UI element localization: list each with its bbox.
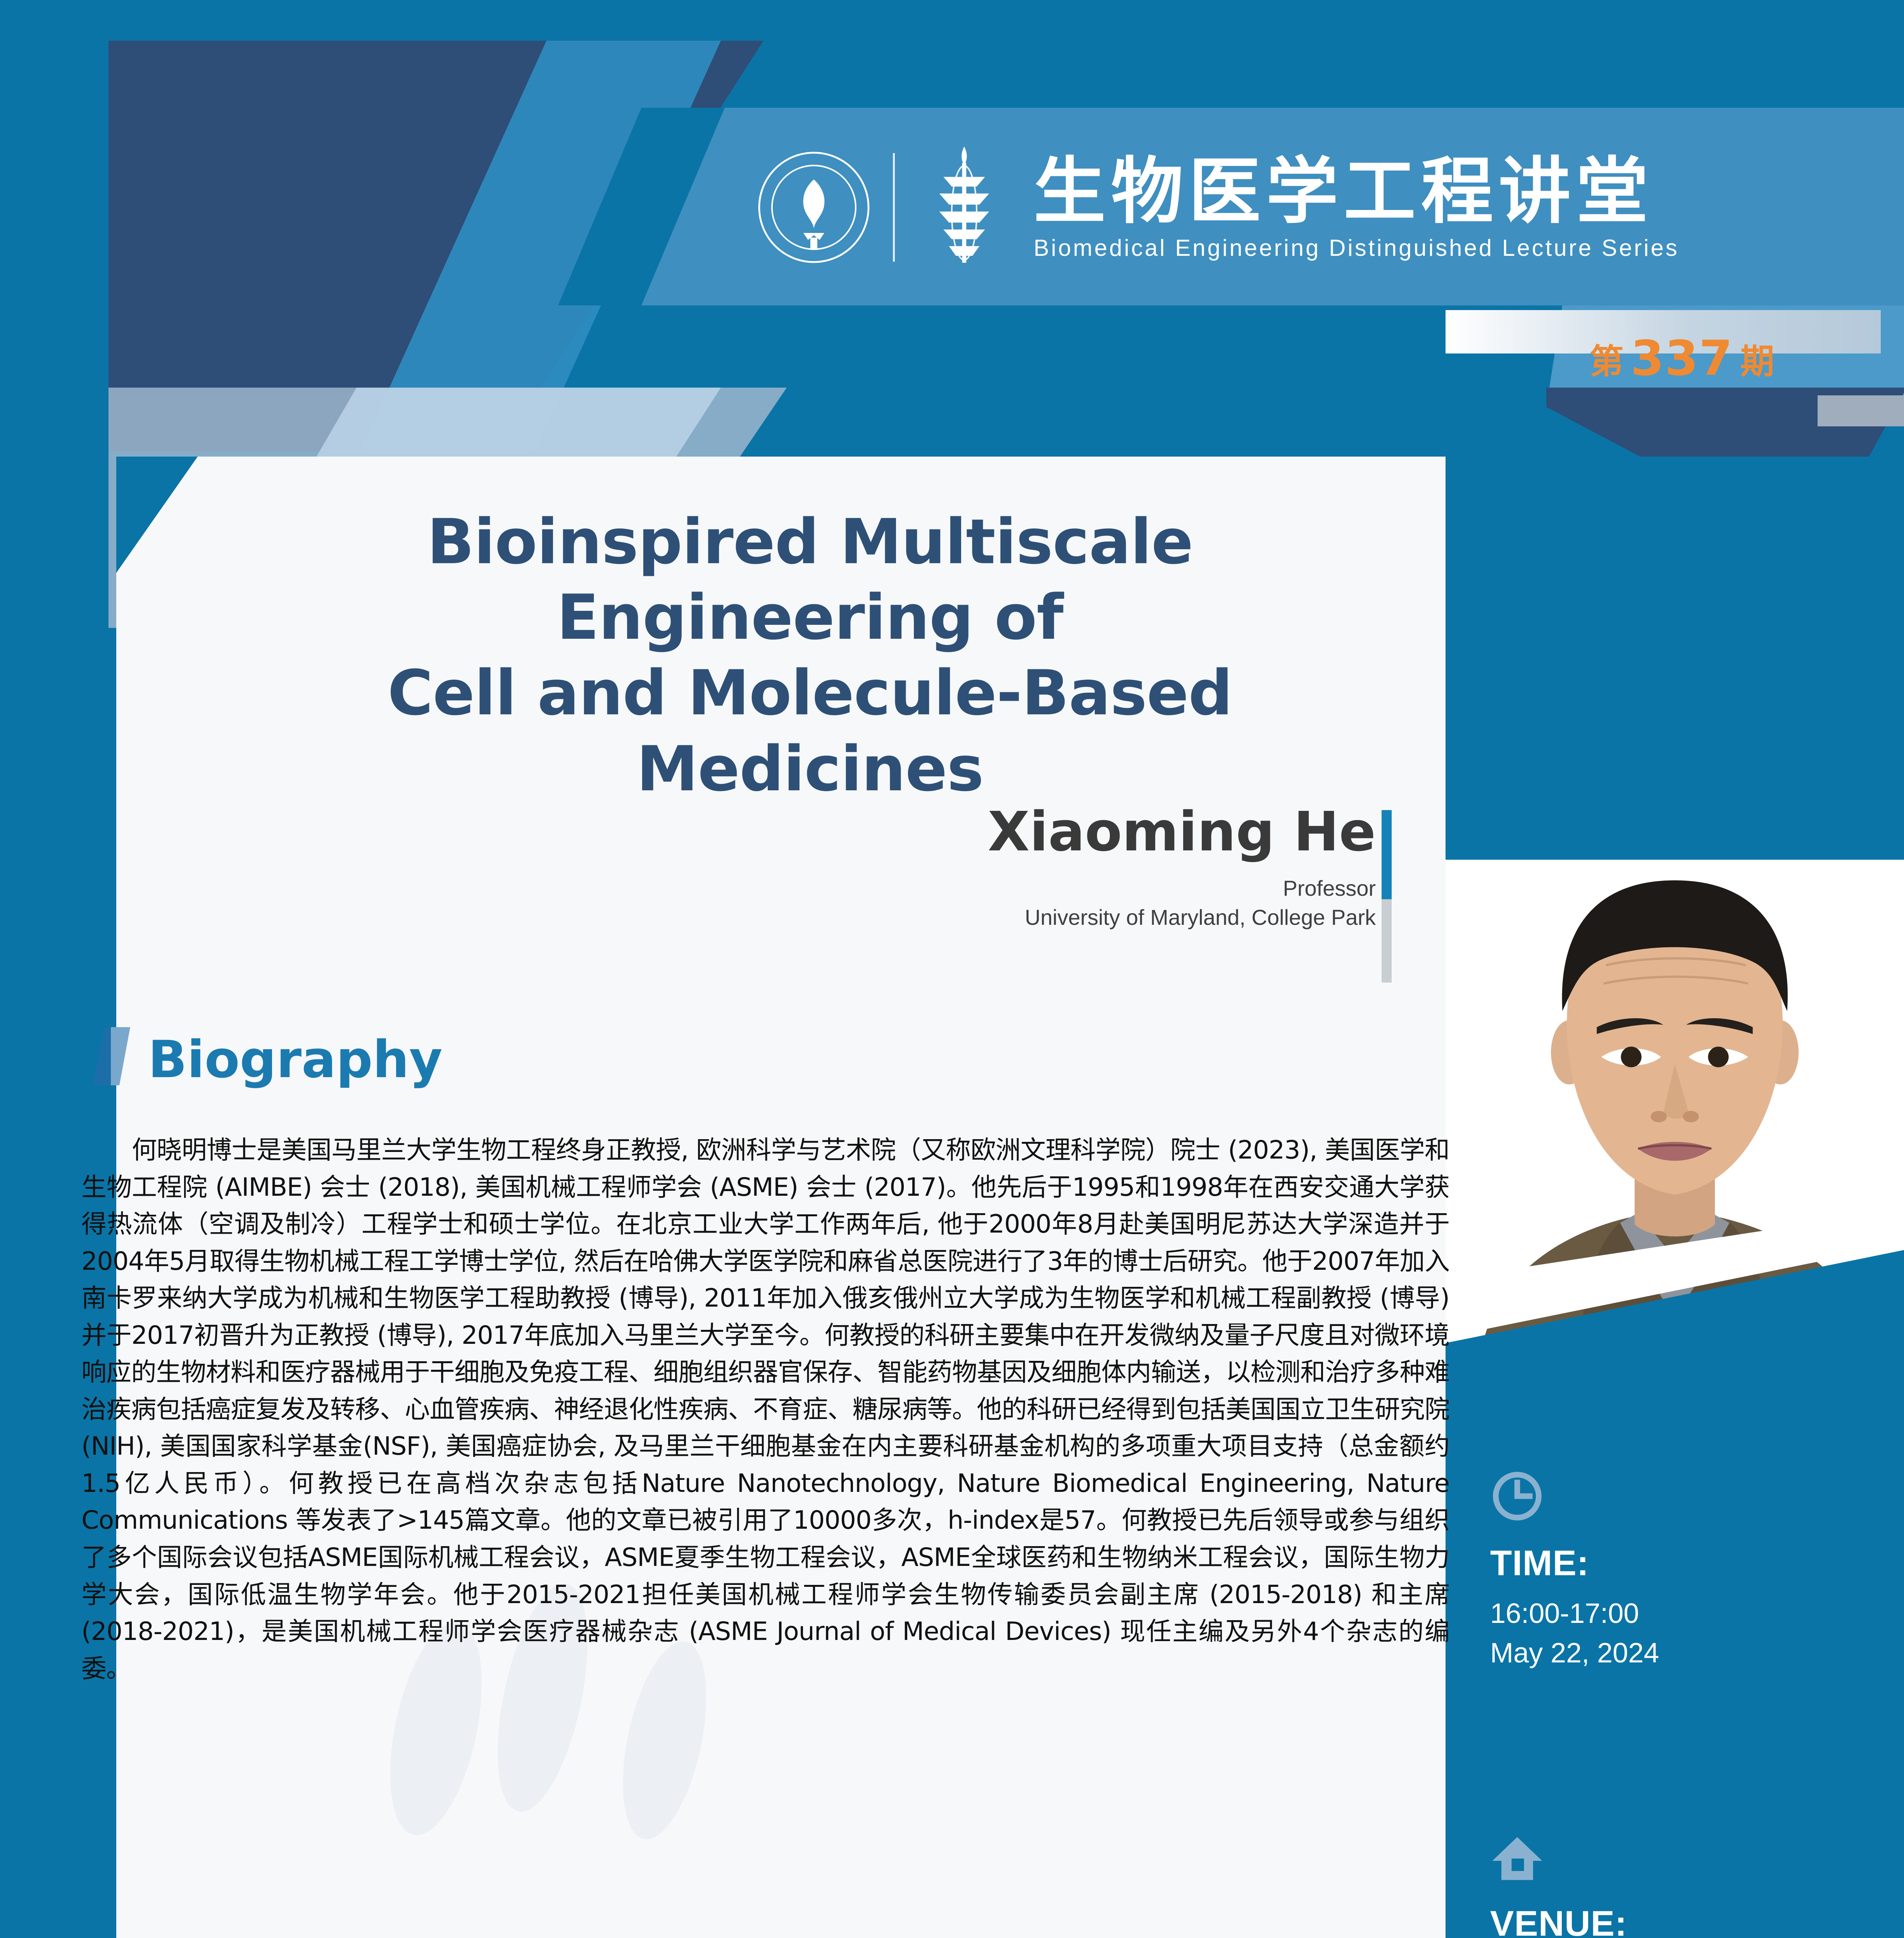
talk-title-line-1: Bioinspired Multiscale Engineering of [217,504,1403,655]
header-divider [893,153,895,262]
sustech-seal-icon [756,149,872,266]
page-title: Bioinspired Multiscale Engineering of Ce… [217,504,1403,807]
bme-gear-icon [916,143,1013,271]
speaker-role: Professor [419,874,1376,903]
speaker-block: Xiaoming He Professor University of Mary… [419,802,1376,932]
time-value-line-2: May 22, 2024 [1490,1633,1882,1673]
lecture-poster: 生物医学工程讲堂 Biomedical Engineering Distingu… [0,0,1904,1938]
time-label: TIME: [1490,1543,1882,1584]
issue-prefix: 第 [1590,334,1624,383]
issue-suffix: 期 [1740,334,1774,383]
header-content: 生物医学工程讲堂 Biomedical Engineering Distingu… [756,116,1903,298]
venue-info-block: VENUE: Room 722, South Tower College of … [1490,1833,1882,1938]
home-icon [1490,1833,1882,1886]
issue-number: 337 [1631,331,1733,386]
biography-heading: Biography [93,1027,443,1085]
biography-heading-label: Biography [148,1034,443,1085]
time-value-line-1: 16:00-17:00 [1490,1594,1882,1633]
time-info-block: TIME: 16:00-17:00 May 22, 2024 [1490,1469,1882,1673]
decor-block-gray [1818,395,1904,426]
speaker-name: Xiaoming He [419,802,1376,862]
issue-number-group: 第 337 期 [1535,320,1829,397]
slash-marker-icon [93,1027,130,1085]
speaker-accent-bar [1382,810,1392,899]
speaker-affiliation: University of Maryland, College Park [419,903,1376,932]
series-title-cn: 生物医学工程讲堂 [1034,153,1679,229]
speaker-accent-bar-gray [1382,899,1392,983]
venue-label: VENUE: [1490,1904,1882,1938]
biography-text: 何晓明博士是美国马里兰大学生物工程终身正教授, 欧洲科学与艺术院（又称欧洲文理科… [81,1132,1449,1687]
talk-title-line-2: Cell and Molecule-Based Medicines [217,655,1403,806]
clock-icon [1490,1469,1882,1525]
series-title-en: Biomedical Engineering Distinguished Lec… [1034,234,1679,261]
series-title-group: 生物医学工程讲堂 Biomedical Engineering Distingu… [1034,153,1679,261]
